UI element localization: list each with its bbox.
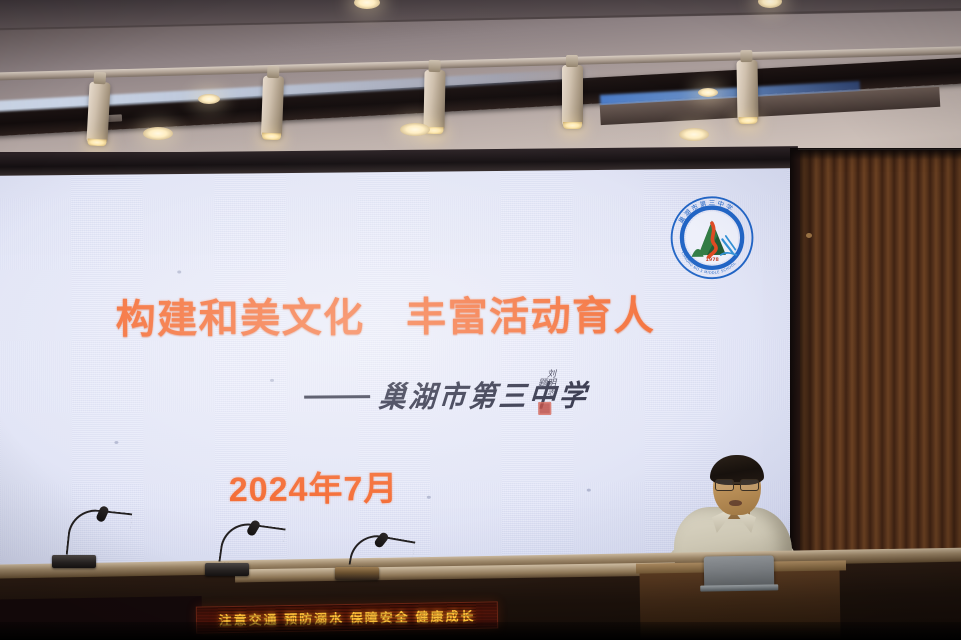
track-spotlight-5 xyxy=(736,60,758,122)
wall-knob xyxy=(806,233,812,238)
microphone-base xyxy=(52,555,96,568)
ceiling-downlight-7 xyxy=(698,88,718,97)
gooseneck-microphone-center[interactable] xyxy=(205,518,285,576)
calligraphy-signature-block: 刘明志题 xyxy=(536,365,558,415)
eyeglasses-icon xyxy=(715,479,759,489)
signature-text: 刘明志题 xyxy=(536,365,554,399)
subtitle-dash xyxy=(304,395,370,398)
eyeglasses-right-lens xyxy=(740,479,759,491)
ceiling-downlight-3 xyxy=(679,128,709,141)
laptop-screen-lid xyxy=(704,555,775,586)
ceiling-downlight-1 xyxy=(143,127,173,140)
track-spotlight-1 xyxy=(86,81,110,144)
screen-speck xyxy=(270,379,274,382)
screen-speck xyxy=(177,270,181,273)
wood-wall-top-shadow xyxy=(790,148,961,160)
slide-title: 构建和美文化 丰富活动育人 xyxy=(115,283,695,345)
gooseneck-microphone-right[interactable] xyxy=(335,530,415,580)
track-spotlight-2 xyxy=(261,76,284,139)
eyeglasses-left-lens xyxy=(715,479,734,491)
conference-hall-photo: 巢湖市第三中学 CHAOHU NO.3 MIDDLE SCHOOL 1978 xyxy=(0,0,961,640)
school-emblem-logo: 巢湖市第三中学 CHAOHU NO.3 MIDDLE SCHOOL 1978 xyxy=(669,194,756,281)
presenter-mouth xyxy=(729,500,742,506)
screen-speck xyxy=(427,496,431,499)
microphone-base xyxy=(205,563,249,576)
track-spotlight-3 xyxy=(423,70,445,132)
slide-subtitle: 巢湖市第三中学 xyxy=(377,372,590,416)
slide-date: 2024年7月 xyxy=(229,461,399,511)
laptop[interactable] xyxy=(700,555,779,590)
screen-speck xyxy=(587,489,591,492)
ceiling-downlight-6 xyxy=(198,94,220,104)
foreground-shadow xyxy=(0,622,961,640)
red-seal-stamp-icon xyxy=(538,402,551,415)
track-spotlight-4 xyxy=(562,65,583,127)
ceiling-downlight-2 xyxy=(400,123,430,136)
emblem-year: 1978 xyxy=(706,257,720,263)
gooseneck-microphone-left[interactable] xyxy=(52,506,132,568)
microphone-base xyxy=(335,567,379,580)
screen-speck xyxy=(114,441,118,444)
ceiling xyxy=(0,0,961,168)
eyeglasses-bridge xyxy=(732,482,740,484)
